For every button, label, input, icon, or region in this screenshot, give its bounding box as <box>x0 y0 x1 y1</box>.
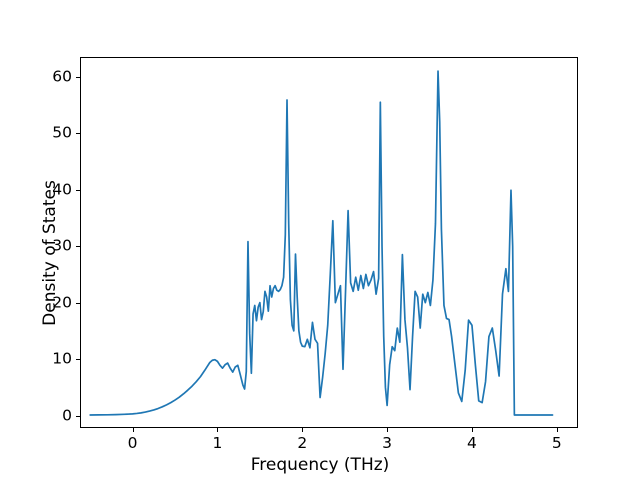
x-axis-label: Frequency (THz) <box>0 455 640 475</box>
y-tick-mark <box>76 133 80 134</box>
y-tick-mark <box>76 190 80 191</box>
dos-curve <box>90 71 552 415</box>
y-tick-mark <box>76 77 80 78</box>
x-tick-label: 1 <box>213 436 223 452</box>
x-tick-label: 0 <box>128 436 138 452</box>
dos-line-plot <box>80 57 578 428</box>
y-tick-mark <box>76 359 80 360</box>
y-tick-mark <box>76 246 80 247</box>
x-tick-label: 4 <box>467 436 477 452</box>
x-tick-label: 3 <box>382 436 392 452</box>
x-tick-mark <box>472 428 473 432</box>
y-tick-label: 60 <box>52 69 72 85</box>
y-tick-mark <box>76 416 80 417</box>
y-tick-mark <box>76 303 80 304</box>
y-axis-label: Density of States <box>40 103 60 403</box>
figure-canvas: 0102030405060 012345 Frequency (THz) Den… <box>0 0 640 480</box>
x-tick-mark <box>557 428 558 432</box>
y-tick-label: 0 <box>62 408 72 424</box>
x-tick-mark <box>217 428 218 432</box>
x-tick-mark <box>387 428 388 432</box>
x-tick-label: 5 <box>552 436 562 452</box>
x-tick-mark <box>302 428 303 432</box>
x-tick-label: 2 <box>297 436 307 452</box>
x-tick-mark <box>133 428 134 432</box>
